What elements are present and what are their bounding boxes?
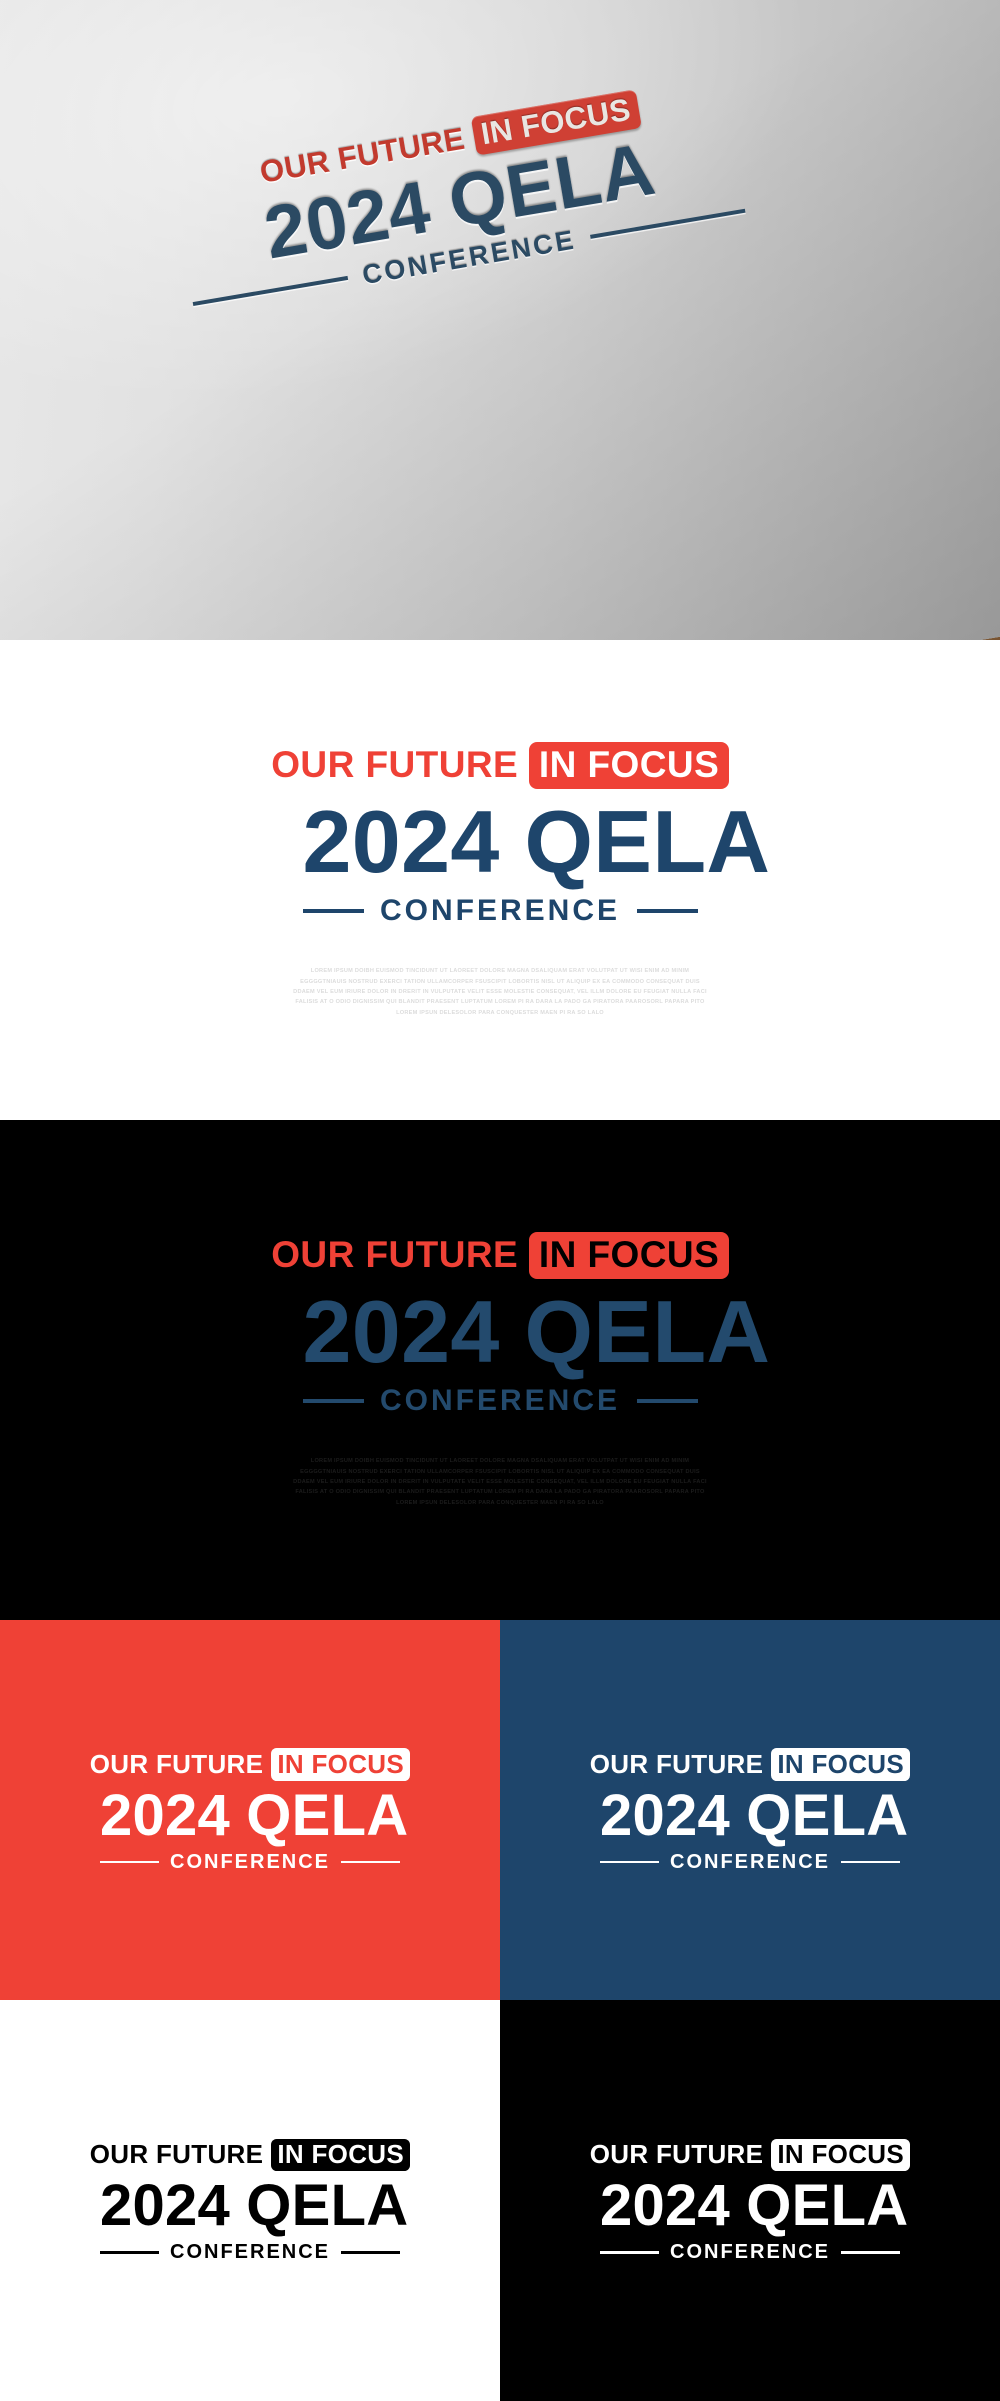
logo-rule-left — [303, 1399, 364, 1403]
lorem-line: LOREM IPSUN DELESOLOR PARA CONQUESTER MA… — [200, 1498, 800, 1508]
logo-tagline-plain: OUR FUTURE — [271, 1234, 518, 1276]
logo-subtitle-row: CONFERENCE — [600, 2242, 900, 2262]
logo-subtitle: CONFERENCE — [170, 2242, 330, 2262]
lorem-line: LOREM IPSUM DOIBH EUISMOD TINCIDUNT UT L… — [200, 966, 800, 976]
logo-subtitle-row: CONFERENCE — [303, 1386, 698, 1416]
lorem-paragraph-light: LOREM IPSUM DOIBH EUISMOD TINCIDUNT UT L… — [200, 966, 800, 1018]
logo-subtitle: CONFERENCE — [670, 1852, 830, 1872]
logo-tagline-row: OUR FUTURE IN FOCUS — [303, 1232, 698, 1279]
lorem-paragraph-dark: LOREM IPSUM DOIBH EUISMOD TINCIDUNT UT L… — [200, 1456, 800, 1508]
section-paper-mockup: OUR FUTURE IN FOCUS 2024 QELA CONFERENCE — [0, 0, 1000, 640]
logo-rule-left — [303, 909, 364, 913]
logo-subtitle: CONFERENCE — [670, 2242, 830, 2262]
lorem-line: EGGGGTNIAUIS NOSTRUD EXERCI TATION ULLAM… — [200, 977, 800, 987]
logo-subtitle: CONFERENCE — [380, 896, 620, 926]
logo-tagline-row: OUR FUTURE IN FOCUS — [600, 2139, 900, 2172]
logo-tagline-plain: OUR FUTURE — [271, 744, 518, 786]
logo-title: 2024 QELA — [303, 797, 698, 887]
logo-subtitle-row: CONFERENCE — [600, 1852, 900, 1872]
logo-rule-left — [600, 1861, 659, 1864]
logo-title: 2024 QELA — [600, 2176, 900, 2235]
lorem-line: LOREM IPSUN DELESOLOR PARA CONQUESTER MA… — [200, 1008, 800, 1018]
paper-sheen-overlay — [0, 0, 1000, 640]
logo-lockup-on-red: OUR FUTURE IN FOCUS 2024 QELA CONFERENCE — [100, 1748, 400, 1872]
logo-rule-left — [600, 2251, 659, 2254]
logo-tagline-row: OUR FUTURE IN FOCUS — [600, 1748, 900, 1781]
lorem-line: DDAEM VEL EUM IRIURE DOLOR IN DRERIT IN … — [200, 1477, 800, 1487]
section-swatch-red: OUR FUTURE IN FOCUS 2024 QELA CONFERENCE — [0, 1620, 500, 2000]
paper-sheet — [0, 0, 1000, 640]
logo-rule-right — [841, 1861, 900, 1864]
logo-rule-right — [637, 1399, 698, 1403]
logo-lockup-on-navy: OUR FUTURE IN FOCUS 2024 QELA CONFERENCE — [600, 1748, 900, 1872]
logo-tagline-chip: IN FOCUS — [271, 1748, 410, 1781]
logo-tagline-plain: OUR FUTURE — [90, 2139, 264, 2170]
logo-subtitle: CONFERENCE — [380, 1386, 620, 1416]
section-swatch-white: OUR FUTURE IN FOCUS 2024 QELA CONFERENCE — [0, 2000, 500, 2401]
logo-tagline-row: OUR FUTURE IN FOCUS — [100, 1748, 400, 1781]
logo-tagline-plain: OUR FUTURE — [90, 1749, 264, 1780]
lorem-line: LOREM IPSUM DOIBH EUISMOD TINCIDUNT UT L… — [200, 1456, 800, 1466]
logo-tagline-chip: IN FOCUS — [771, 1748, 910, 1781]
logo-rule-right — [637, 909, 698, 913]
logo-tagline-row: OUR FUTURE IN FOCUS — [303, 742, 698, 789]
logo-rule-left — [100, 1861, 159, 1864]
logo-lockup-on-black: OUR FUTURE IN FOCUS 2024 QELA CONFERENCE — [600, 2139, 900, 2263]
logo-title: 2024 QELA — [100, 1786, 400, 1845]
section-swatch-blue: OUR FUTURE IN FOCUS 2024 QELA CONFERENCE — [500, 1620, 1000, 2000]
lorem-line: FALISIS AT O ODIO DIGNISSIM QUI BLANDIT … — [200, 1487, 800, 1497]
logo-lockup-dark: OUR FUTURE IN FOCUS 2024 QELA CONFERENCE — [303, 1232, 698, 1416]
lorem-line: EGGGGTNIAUIS NOSTRUD EXERCI TATION ULLAM… — [200, 1467, 800, 1477]
logo-title: 2024 QELA — [600, 1786, 900, 1845]
logo-rule-right — [341, 2251, 400, 2254]
logo-title: 2024 QELA — [100, 2176, 400, 2235]
logo-subtitle-row: CONFERENCE — [100, 1852, 400, 1872]
logo-tagline-row: OUR FUTURE IN FOCUS — [100, 2139, 400, 2172]
logo-title: 2024 QELA — [303, 1287, 698, 1377]
logo-subtitle: CONFERENCE — [170, 1852, 330, 1872]
logo-tagline-chip: IN FOCUS — [771, 2139, 910, 2172]
swatch-row-mono: OUR FUTURE IN FOCUS 2024 QELA CONFERENCE… — [0, 2000, 1000, 2401]
logo-tagline-plain: OUR FUTURE — [590, 1749, 764, 1780]
logo-subtitle-row: CONFERENCE — [100, 2242, 400, 2262]
logo-lockup-color: OUR FUTURE IN FOCUS 2024 QELA CONFERENCE — [303, 742, 698, 926]
section-light-primary: OUR FUTURE IN FOCUS 2024 QELA CONFERENCE… — [0, 640, 1000, 1120]
swatch-row-primary: OUR FUTURE IN FOCUS 2024 QELA CONFERENCE… — [0, 1620, 1000, 2000]
logo-rule-right — [841, 2251, 900, 2254]
logo-tagline-chip: IN FOCUS — [529, 1232, 729, 1279]
logo-lockup-on-white: OUR FUTURE IN FOCUS 2024 QELA CONFERENCE — [100, 2139, 400, 2263]
logo-tagline-chip: IN FOCUS — [529, 742, 729, 789]
lorem-line: DDAEM VEL EUM IRIURE DOLOR IN DRERIT IN … — [200, 987, 800, 997]
logo-tagline-chip: IN FOCUS — [271, 2139, 410, 2172]
section-swatch-black: OUR FUTURE IN FOCUS 2024 QELA CONFERENCE — [500, 2000, 1000, 2401]
logo-tagline-plain: OUR FUTURE — [590, 2139, 764, 2170]
section-dark-primary: OUR FUTURE IN FOCUS 2024 QELA CONFERENCE… — [0, 1120, 1000, 1620]
lorem-line: FALISIS AT O ODIO DIGNISSIM QUI BLANDIT … — [200, 997, 800, 1007]
logo-subtitle-row: CONFERENCE — [303, 896, 698, 926]
logo-rule-right — [341, 1861, 400, 1864]
logo-rule-left — [100, 2251, 159, 2254]
